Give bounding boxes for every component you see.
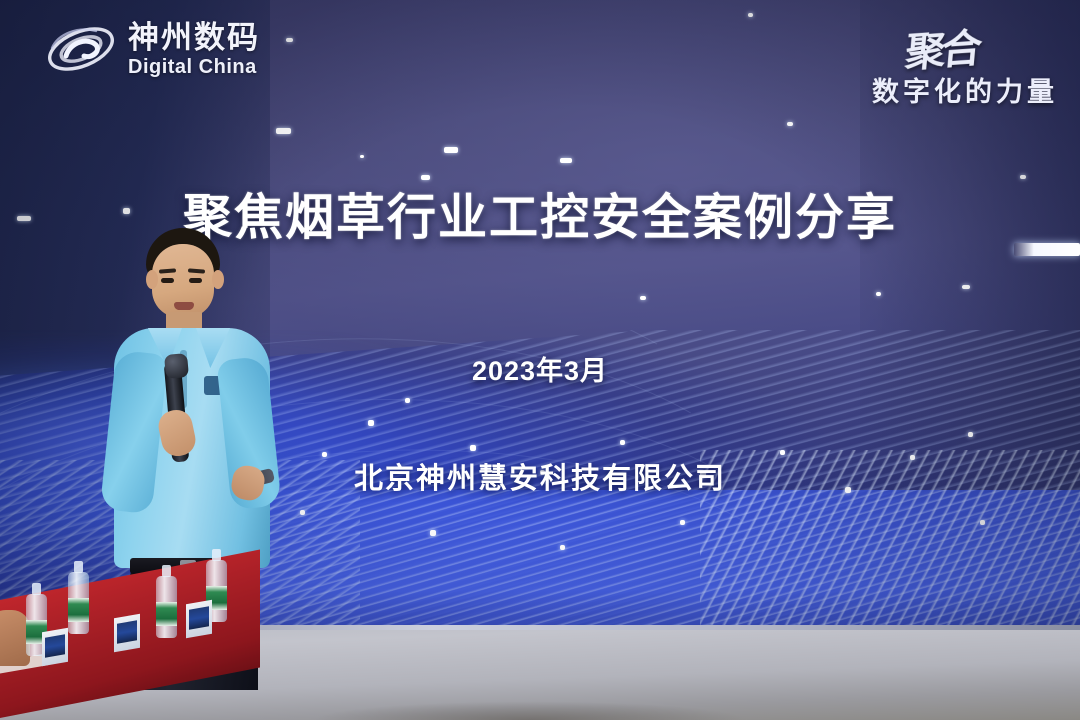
bottle-label xyxy=(156,602,177,626)
water-bottle xyxy=(156,576,177,638)
event-brush-text: 聚合 xyxy=(903,16,981,79)
name-card xyxy=(186,600,212,639)
name-card-text xyxy=(189,606,209,630)
brand-name-en: Digital China xyxy=(128,57,260,77)
name-card xyxy=(42,628,68,667)
water-bottle xyxy=(68,572,89,634)
spiral-swoosh-icon xyxy=(44,18,118,80)
name-card-text xyxy=(45,634,65,658)
bottle-label xyxy=(68,598,89,622)
stage-floor-shadow xyxy=(230,674,830,720)
microphone-icon xyxy=(164,353,189,379)
stage-photo: 神州数码 Digital China 聚合 数字化的力量 聚焦烟草行业工控安全案… xyxy=(0,0,1080,720)
foreground-table xyxy=(0,560,270,720)
name-card-text xyxy=(117,620,137,644)
presenter-eye-right xyxy=(189,278,202,283)
brand-name-cn: 神州数码 xyxy=(128,22,260,53)
presenter-ear-right xyxy=(212,270,224,289)
brand-logo: 神州数码 Digital China xyxy=(44,18,260,80)
presenter-ear-left xyxy=(146,270,158,289)
screen-edge-streak xyxy=(1014,243,1080,256)
brand-logo-words: 神州数码 Digital China xyxy=(128,22,260,77)
event-logo: 聚合 数字化的力量 xyxy=(808,18,1058,109)
name-card xyxy=(114,614,140,653)
presenter-eye-left xyxy=(161,278,174,283)
presenter-mouth xyxy=(174,302,194,310)
